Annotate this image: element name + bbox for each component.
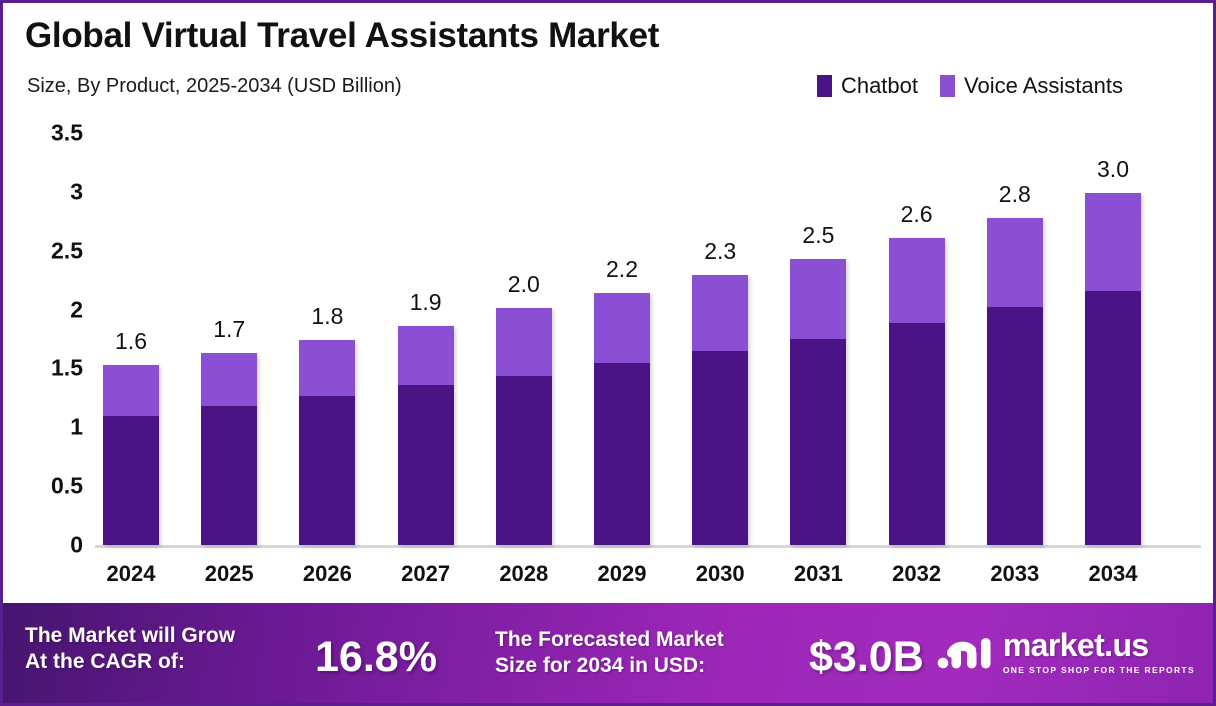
forecast-size-label-line1: The Forecasted Market [495,627,800,653]
bar-segment-chatbot[interactable] [889,323,945,545]
brand-logo[interactable]: market.us ONE STOP SHOP FOR THE REPORTS [937,629,1195,675]
cagr-value: 16.8% [315,633,437,682]
bar-value-label: 1.7 [213,316,245,343]
bar-group[interactable]: 1.62024 [103,111,159,545]
bar-value-label: 1.9 [410,289,442,316]
forecast-size-value: $3.0B [809,633,924,682]
stacked-bar[interactable] [299,340,355,545]
y-axis-tick: 3 [70,178,83,205]
x-axis-tick: 2033 [990,561,1039,587]
x-axis-baseline [95,545,1201,548]
x-axis-tick: 2027 [401,561,450,587]
bar-segment-chatbot[interactable] [398,385,454,545]
bar-group[interactable]: 2.62032 [889,111,945,545]
y-axis-tick: 0 [70,532,83,559]
y-axis-tick: 1.5 [51,355,83,382]
bar-segment-chatbot[interactable] [1085,291,1141,545]
bar-value-label: 2.2 [606,256,638,283]
bar-segment-voice-assistants[interactable] [398,326,454,385]
x-axis-tick: 2024 [107,561,156,587]
cagr-label-line1: The Market will Grow [25,623,305,649]
bar-group[interactable]: 1.72025 [201,111,257,545]
bar-segment-chatbot[interactable] [692,351,748,545]
bar-segment-chatbot[interactable] [496,376,552,546]
bar-segment-voice-assistants[interactable] [594,293,650,362]
brand-text: market.us ONE STOP SHOP FOR THE REPORTS [1003,629,1195,675]
bar-value-label: 2.3 [704,238,736,265]
bar-segment-voice-assistants[interactable] [103,365,159,416]
y-axis: 00.511.522.533.5 [3,111,95,551]
y-axis-tick: 2.5 [51,237,83,264]
bar-segment-voice-assistants[interactable] [987,218,1043,307]
stacked-bar[interactable] [496,308,552,545]
y-axis-tick: 1 [70,414,83,441]
stacked-bar[interactable] [692,275,748,545]
bar-value-label: 2.8 [999,181,1031,208]
stacked-bar[interactable] [103,365,159,545]
chart-subtitle: Size, By Product, 2025-2034 (USD Billion… [27,75,402,98]
bar-group[interactable]: 2.22029 [594,111,650,545]
brand-name: market.us [1003,629,1195,661]
legend-swatch-icon [940,75,955,97]
cagr-label-line2: At the CAGR of: [25,649,305,675]
bar-segment-chatbot[interactable] [790,339,846,545]
chart-legend: Chatbot Voice Assistants [817,73,1123,99]
chart-plot-area: 00.511.522.533.5 1.620241.720251.820261.… [3,111,1213,603]
bar-group[interactable]: 2.52031 [790,111,846,545]
bar-group[interactable]: 2.02028 [496,111,552,545]
stacked-bar[interactable] [889,238,945,545]
bar-segment-chatbot[interactable] [987,307,1043,545]
x-axis-tick: 2030 [696,561,745,587]
bar-segment-voice-assistants[interactable] [1085,193,1141,291]
brand-tagline: ONE STOP SHOP FOR THE REPORTS [1003,665,1195,675]
bar-segment-voice-assistants[interactable] [790,259,846,339]
forecast-size-label: The Forecasted Market Size for 2034 in U… [495,627,800,680]
chart-infographic: Global Virtual Travel Assistants Market … [0,0,1216,706]
stacked-bar[interactable] [790,259,846,545]
x-axis-tick: 2029 [598,561,647,587]
legend-label: Chatbot [841,73,918,99]
bar-segment-voice-assistants[interactable] [692,275,748,350]
bar-value-label: 2.0 [508,271,540,298]
legend-item-voice-assistants[interactable]: Voice Assistants [940,73,1123,99]
bar-value-label: 3.0 [1097,156,1129,183]
stacked-bar[interactable] [987,218,1043,545]
bar-group[interactable]: 3.02034 [1085,111,1141,545]
bar-group[interactable]: 1.82026 [299,111,355,545]
market-us-logo-icon [937,629,993,675]
bar-value-label: 2.6 [901,201,933,228]
bar-segment-voice-assistants[interactable] [496,308,552,375]
forecast-size-label-line2: Size for 2034 in USD: [495,653,800,679]
x-axis-tick: 2031 [794,561,843,587]
bar-group[interactable]: 1.92027 [398,111,454,545]
page-title: Global Virtual Travel Assistants Market [25,16,659,56]
stacked-bar[interactable] [594,293,650,545]
stacked-bar[interactable] [398,326,454,545]
y-axis-tick: 2 [70,296,83,323]
x-axis-tick: 2034 [1089,561,1138,587]
legend-swatch-icon [817,75,832,97]
bar-segment-chatbot[interactable] [201,406,257,545]
x-axis-tick: 2032 [892,561,941,587]
y-axis-tick: 3.5 [51,120,83,147]
bar-segment-chatbot[interactable] [299,396,355,545]
chart-header: Global Virtual Travel Assistants Market … [3,3,1213,111]
stacked-bar[interactable] [201,353,257,545]
bar-group[interactable]: 2.32030 [692,111,748,545]
bar-series-container: 1.620241.720251.820261.920272.020282.220… [103,111,1203,545]
bar-value-label: 2.5 [802,222,834,249]
bar-group[interactable]: 2.82033 [987,111,1043,545]
bar-segment-voice-assistants[interactable] [889,238,945,323]
y-axis-tick: 0.5 [51,473,83,500]
x-axis-tick: 2028 [499,561,548,587]
x-axis-tick: 2025 [205,561,254,587]
bar-segment-chatbot[interactable] [103,416,159,545]
bar-value-label: 1.8 [311,303,343,330]
legend-label: Voice Assistants [964,73,1123,99]
cagr-label: The Market will Grow At the CAGR of: [25,623,305,676]
x-axis-tick: 2026 [303,561,352,587]
bar-segment-voice-assistants[interactable] [201,353,257,406]
footer-banner: The Market will Grow At the CAGR of: 16.… [3,603,1213,703]
stacked-bar[interactable] [1085,193,1141,545]
bar-value-label: 1.6 [115,328,147,355]
bar-segment-chatbot[interactable] [594,363,650,545]
legend-item-chatbot[interactable]: Chatbot [817,73,918,99]
bar-segment-voice-assistants[interactable] [299,340,355,395]
